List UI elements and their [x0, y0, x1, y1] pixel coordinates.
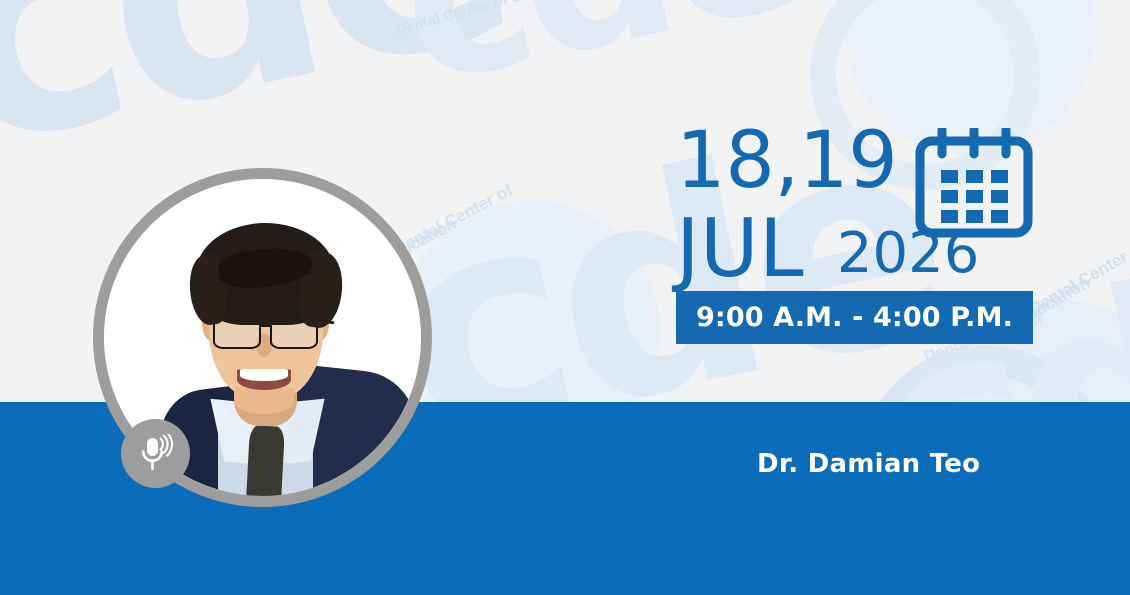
watermark-logo-text: cde	[0, 0, 518, 160]
event-time-text: 9:00 A.M. - 4:00 P.M.	[696, 302, 1013, 333]
watermark-logo-text: cde	[387, 0, 814, 93]
event-days: 18,19	[676, 126, 897, 198]
event-year: 2026	[837, 226, 980, 282]
watermark-tagline: Dental Center of	[1026, 237, 1130, 320]
speaker-name: Dr. Damian Teo	[757, 449, 980, 479]
microphone-badge	[121, 419, 190, 488]
event-banner: cde cde cde cde Dental Center of Educati…	[0, 0, 1130, 595]
microphone-icon	[138, 434, 174, 474]
event-time-banner: 9:00 A.M. - 4:00 P.M.	[676, 291, 1033, 344]
watermark-tagline: Dental Center of	[391, 180, 516, 259]
event-month: JUL	[676, 213, 804, 285]
event-month-year-row: JUL 2026	[676, 213, 979, 286]
watermark-tagline: Dental Center of Education	[393, 0, 583, 39]
